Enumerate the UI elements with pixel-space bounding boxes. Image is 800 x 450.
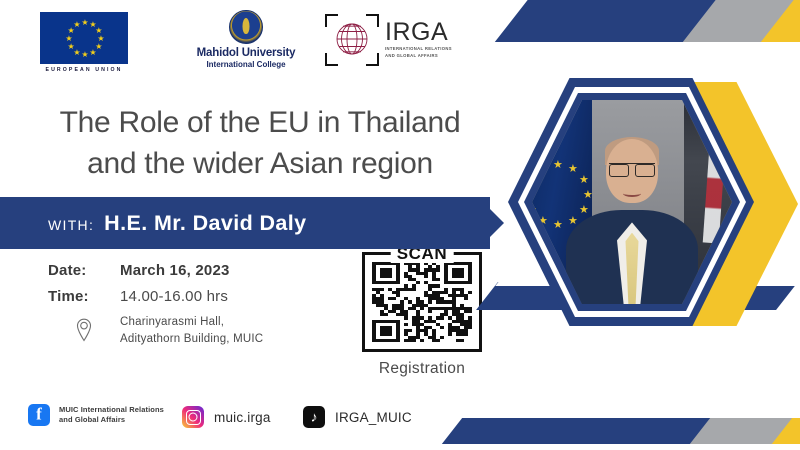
qr-caption: Registration [352,360,492,378]
qr-code-icon[interactable] [372,262,472,342]
irga-tagline-line1: INTERNATIONAL RELATIONS [385,46,452,52]
eu-flag-icon: ★★★★★★★★★★★★ [40,12,128,64]
qr-registration-block[interactable]: SCAN Registration [352,252,492,378]
time-row: Time: 14.00-16.00 hrs [48,288,338,305]
title-line-2: and the wider Asian region [0,143,520,184]
facebook-label: MUIC International Relations and Global … [59,405,164,425]
map-pin-icon [75,318,93,342]
speaker-portrait: ★★★★★★★★★★★★ [506,78,798,330]
speaker-bar: WITH: H.E. Mr. David Daly [0,197,490,249]
instagram-handle: muic.irga [214,410,271,425]
venue-line-2: Adityathorn Building, MUIC [120,333,263,345]
mahidol-university-logo: Mahidol University International College [182,10,310,69]
facebook-label-line1: MUIC International Relations [59,405,164,414]
mahidol-name: Mahidol University [182,47,310,59]
speaker-name: H.E. Mr. David Daly [104,211,306,236]
facebook-label-line2: and Global Affairs [59,415,125,424]
date-value: March 16, 2023 [120,262,230,279]
event-poster: ★★★★★★★★★★★★ EUROPEAN UNION Mahidol Univ… [0,0,800,450]
time-value: 14.00-16.00 hrs [120,288,228,305]
mahidol-emblem-icon [229,10,263,44]
poster-title: The Role of the EU in Thailand and the w… [0,102,520,184]
venue-text: Charinyarasmi Hall, Adityathorn Building… [120,314,263,348]
instagram-icon [182,406,204,428]
irga-wordmark-block: IRGA INTERNATIONAL RELATIONS AND GLOBAL … [385,20,452,59]
irga-tagline-line2: AND GLOBAL AFFAIRS [385,53,452,59]
tiktok-handle: IRGA_MUIC [335,410,412,425]
logo-row: ★★★★★★★★★★★★ EUROPEAN UNION Mahidol Univ… [0,8,470,80]
social-link-instagram[interactable]: muic.irga [182,406,271,428]
facebook-icon [28,404,50,426]
irga-wordmark: IRGA [385,20,452,45]
qr-frame: SCAN [362,252,482,352]
date-label: Date: [48,262,120,279]
mahidol-subtitle: International College [182,60,310,69]
tiktok-icon [303,406,325,428]
social-link-tiktok[interactable]: IRGA_MUIC [303,406,412,428]
irga-logo: IRGA INTERNATIONAL RELATIONS AND GLOBAL … [325,12,465,68]
with-label: WITH: [48,217,94,233]
irga-globe-icon [332,21,372,57]
time-label: Time: [48,288,120,305]
date-row: Date: March 16, 2023 [48,262,338,279]
eu-logo-caption: EUROPEAN UNION [40,67,128,73]
social-link-facebook[interactable]: MUIC International Relations and Global … [28,404,164,426]
title-line-1: The Role of the EU in Thailand [0,102,520,143]
venue-line-1: Charinyarasmi Hall, [120,316,224,328]
european-union-logo: ★★★★★★★★★★★★ EUROPEAN UNION [40,12,132,73]
social-footer: MUIC International Relations and Global … [0,404,470,434]
event-details: Date: March 16, 2023 Time: 14.00-16.00 h… [48,262,338,348]
venue-row: Charinyarasmi Hall, Adityathorn Building… [48,314,338,348]
